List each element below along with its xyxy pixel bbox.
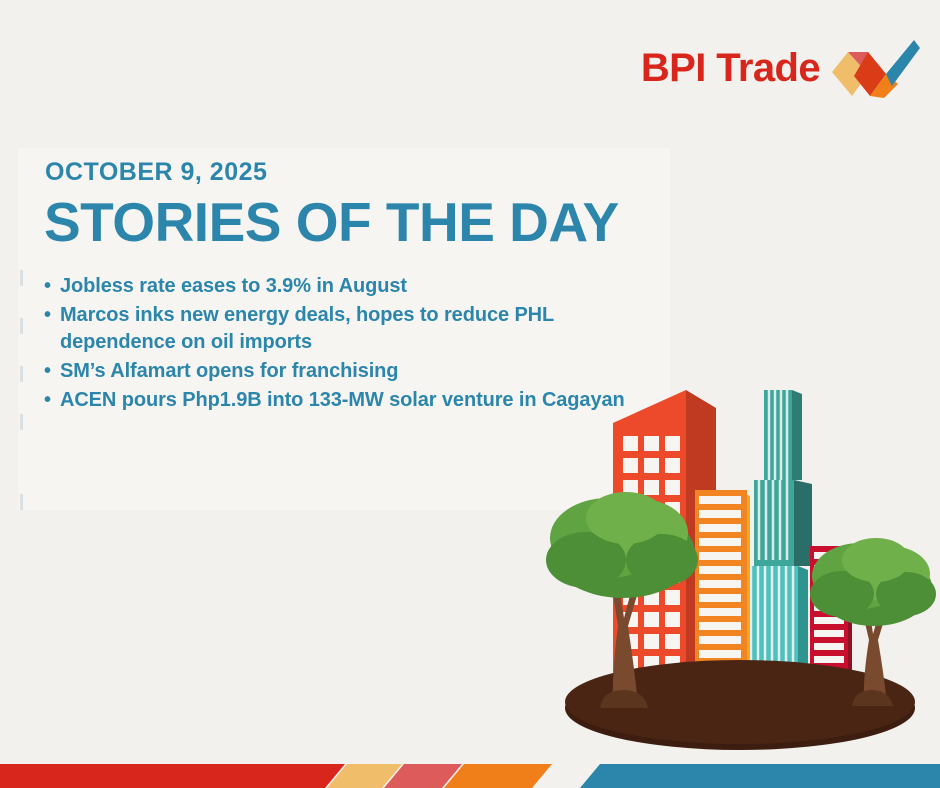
list-item[interactable]: Marcos inks new energy deals, hopes to r… <box>44 302 644 356</box>
city-skyline-illustration <box>540 378 940 760</box>
list-item[interactable]: Jobless rate eases to 3.9% in August <box>44 273 644 300</box>
orange-chevron <box>444 764 552 788</box>
blue-stripe <box>580 764 940 788</box>
stories-of-the-day-infographic: BPI Trade OCTOBER 9, 2025 STORIES OF THE… <box>0 0 940 788</box>
page-date: OCTOBER 9, 2025 <box>45 159 267 187</box>
bottom-accent-bar <box>0 764 940 788</box>
logo-wordmark: BPI Trade <box>641 48 820 88</box>
teal-tower-middle <box>754 480 812 566</box>
teal-tower-top <box>764 390 802 480</box>
page-title: STORIES OF THE DAY <box>44 192 619 253</box>
red-stripe <box>0 764 345 788</box>
edge-tick-texture <box>20 270 24 510</box>
bpi-trade-checkmark-logo-icon <box>830 36 922 100</box>
bpi-trade-logo[interactable]: BPI Trade <box>641 36 922 100</box>
